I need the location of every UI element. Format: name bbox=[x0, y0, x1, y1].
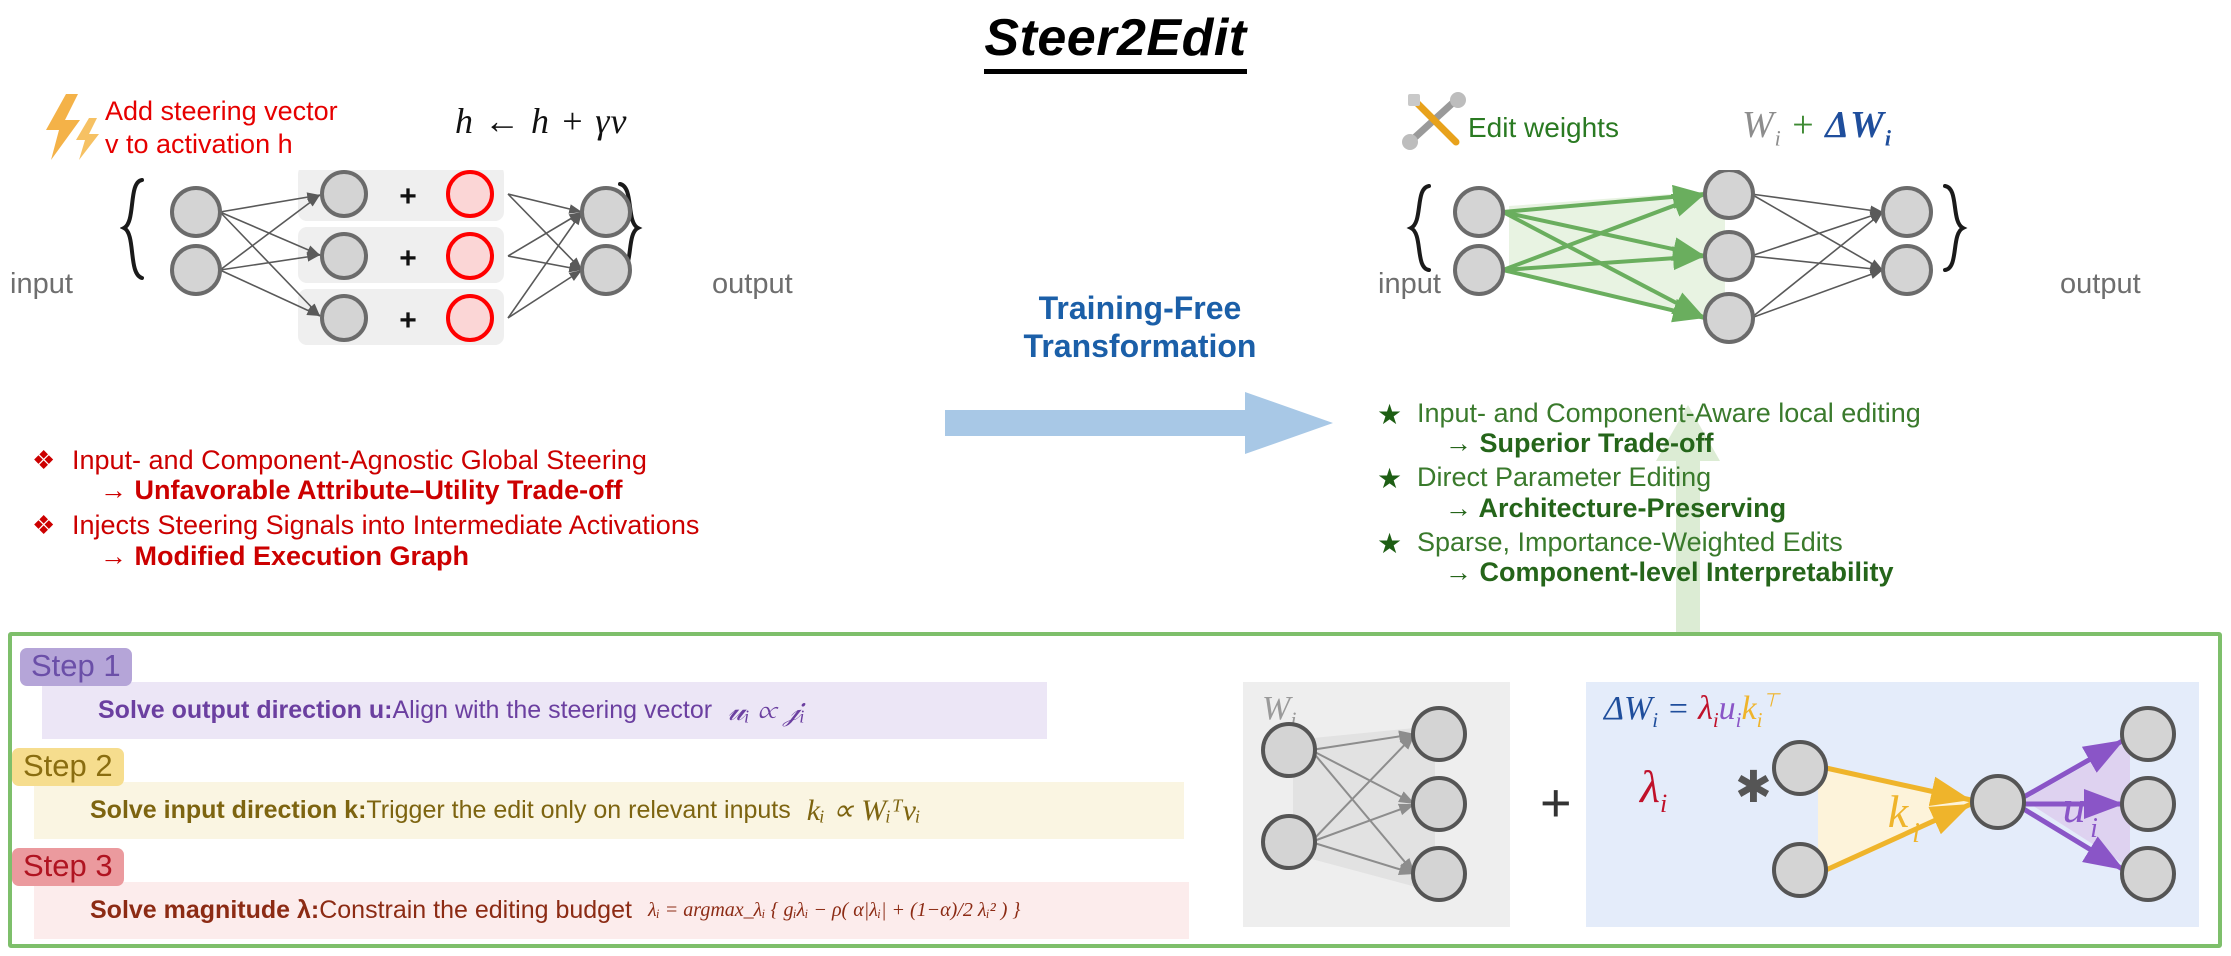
decomposition-plus-symbol: + bbox=[1540, 772, 1572, 834]
bullet-sub-text: → Modified Execution Graph bbox=[72, 541, 699, 571]
bullet-sub-text: → Architecture-Preserving bbox=[1417, 493, 1786, 523]
step-2-math: kᵢ ∝ Wᵢᵀvᵢ bbox=[807, 793, 921, 828]
left-bullet-list: ❖ Input- and Component-Agnostic Global S… bbox=[10, 445, 950, 576]
dw-bottleneck-neuron bbox=[1972, 776, 2024, 828]
step-1-text: Align with the steering vector bbox=[392, 696, 712, 725]
formula-dw: ΔW bbox=[1825, 104, 1885, 146]
step-2-text: Trigger the edit only on relevant inputs bbox=[366, 796, 790, 825]
wi-output-neuron bbox=[1413, 708, 1465, 760]
bullet-sub-text: → Superior Trade-off bbox=[1417, 428, 1921, 458]
left-input-label: input bbox=[10, 268, 73, 301]
bullet-main-text: Input- and Component-Aware local editing bbox=[1417, 398, 1921, 428]
activation-steering-formula: h ← h + γv bbox=[455, 100, 627, 142]
list-item: ★ Direct Parameter Editing → Architectur… bbox=[1355, 462, 2215, 522]
hidden-neuron bbox=[1705, 294, 1753, 342]
steering-vector-neuron bbox=[448, 172, 492, 216]
step-1-math: 𝓊ᵢ ∝ 𝒿ᵢ bbox=[728, 694, 805, 728]
dw-rank1-diagram: k i u i bbox=[1586, 682, 2199, 927]
bullet-main-text: Input- and Component-Agnostic Global Ste… bbox=[72, 445, 647, 475]
input-brace bbox=[1411, 186, 1429, 270]
list-item: ❖ Input- and Component-Agnostic Global S… bbox=[10, 445, 950, 505]
hidden-neuron bbox=[322, 234, 366, 278]
dw-output-neuron bbox=[2122, 848, 2174, 900]
wi-output-neuron bbox=[1413, 848, 1465, 900]
dw-output-neuron bbox=[2122, 778, 2174, 830]
page-title-text: Steer2Edit bbox=[984, 9, 1246, 74]
transformation-caption-line1: Training-Free bbox=[975, 290, 1305, 328]
bullet-main-text: Sparse, Importance-Weighted Edits bbox=[1417, 527, 1894, 557]
list-item: ★ Sparse, Importance-Weighted Edits → Co… bbox=[1355, 527, 2215, 587]
wi-input-neuron bbox=[1263, 724, 1315, 776]
wi-network-diagram bbox=[1243, 682, 1510, 927]
lightning-bolt-icon bbox=[40, 92, 106, 162]
dw-input-neuron bbox=[1774, 844, 1826, 896]
input-neuron bbox=[172, 188, 220, 236]
edited-network-diagram bbox=[1385, 170, 2025, 400]
right-input-label: input bbox=[1378, 268, 1441, 301]
bullet-sub-text: → Unfavorable Attribute–Utility Trade-of… bbox=[72, 475, 647, 505]
step-3-row: Solve magnitude λ: Constrain the editing… bbox=[34, 882, 1189, 939]
step-1-tag: Step 1 bbox=[20, 648, 132, 686]
step-1-bold: Solve output direction u: bbox=[98, 696, 392, 725]
right-output-label: output bbox=[2060, 268, 2141, 301]
star-bullet-icon: ★ bbox=[1355, 527, 1417, 560]
plus-symbol: + bbox=[399, 304, 417, 337]
output-neuron bbox=[582, 246, 630, 294]
hammer-and-wrench-icon bbox=[1400, 92, 1472, 150]
transformation-caption: Training-Free Transformation bbox=[975, 290, 1305, 366]
output-neuron bbox=[582, 188, 630, 236]
bullet-main-text: Direct Parameter Editing bbox=[1417, 462, 1786, 492]
dw-input-neuron bbox=[1774, 742, 1826, 794]
output-brace bbox=[1945, 186, 1963, 270]
input-brace bbox=[124, 180, 142, 278]
diamond-bullet-icon: ❖ bbox=[10, 510, 72, 541]
k-vector-sub: i bbox=[1912, 818, 1920, 849]
step-3-math: λᵢ = argmax_λᵢ { gᵢλᵢ − ρ( α|λᵢ| + (1−α)… bbox=[648, 899, 1020, 922]
left-heading-line1: Add steering vector bbox=[105, 95, 435, 128]
weight-edit-formula: Wi + ΔWi bbox=[1742, 103, 1892, 152]
hidden-neuron bbox=[1705, 232, 1753, 280]
formula-w-sub: i bbox=[1775, 126, 1782, 151]
input-neuron bbox=[1455, 246, 1503, 294]
transformation-caption-line2: Transformation bbox=[975, 328, 1305, 366]
step-1-row: Solve output direction u: Align with the… bbox=[42, 682, 1047, 739]
output-neuron bbox=[1883, 246, 1931, 294]
right-heading: Edit weights bbox=[1468, 112, 1619, 144]
step-3-tag: Step 3 bbox=[12, 848, 124, 886]
step-3-bold: Solve magnitude λ: bbox=[90, 896, 319, 925]
right-bullet-list: ★ Input- and Component-Aware local editi… bbox=[1355, 398, 2215, 591]
formula-dw-sub: i bbox=[1885, 126, 1892, 151]
wi-output-neuron bbox=[1413, 778, 1465, 830]
plus-symbol: + bbox=[399, 242, 417, 275]
hidden-neuron bbox=[322, 172, 366, 216]
list-item: ❖ Injects Steering Signals into Intermed… bbox=[10, 510, 950, 570]
bullet-main-text: Injects Steering Signals into Intermedia… bbox=[72, 510, 699, 540]
left-output-label: output bbox=[712, 268, 793, 301]
slide-canvas: Steer2Edit Add steering vector v to acti… bbox=[0, 0, 2231, 956]
k-vector-label: k bbox=[1888, 786, 1910, 837]
transformation-arrow-icon bbox=[945, 390, 1335, 460]
list-item: ★ Input- and Component-Aware local editi… bbox=[1355, 398, 2215, 458]
diamond-bullet-icon: ❖ bbox=[10, 445, 72, 476]
dw-output-neuron bbox=[2122, 708, 2174, 760]
step-3-text: Constrain the editing budget bbox=[319, 896, 632, 925]
plus-symbol: + bbox=[399, 180, 417, 213]
output-neuron bbox=[1883, 188, 1931, 236]
formula-w: W bbox=[1742, 104, 1775, 146]
wi-input-neuron bbox=[1263, 816, 1315, 868]
star-bullet-icon: ★ bbox=[1355, 462, 1417, 495]
hidden-neuron bbox=[322, 296, 366, 340]
step-2-bold: Solve input direction k: bbox=[90, 796, 366, 825]
hidden-neuron bbox=[1705, 170, 1753, 218]
star-bullet-icon: ★ bbox=[1355, 398, 1417, 431]
u-vector-sub: i bbox=[2090, 813, 2098, 844]
u-vector-label: u bbox=[2063, 781, 2086, 832]
formula-plus: + bbox=[1792, 104, 1814, 146]
step-2-tag: Step 2 bbox=[12, 748, 124, 786]
input-neuron bbox=[172, 246, 220, 294]
left-heading: Add steering vector v to activation h bbox=[105, 95, 435, 161]
steering-vector-neuron bbox=[448, 296, 492, 340]
bullet-sub-text: → Component-level Interpretability bbox=[1417, 557, 1894, 587]
steering-vector-neuron bbox=[448, 234, 492, 278]
page-title: Steer2Edit bbox=[0, 8, 2231, 68]
input-neuron bbox=[1455, 188, 1503, 236]
steering-network-diagram: + + + bbox=[120, 170, 740, 400]
left-heading-line2: v to activation h bbox=[105, 128, 435, 161]
step-2-row: Solve input direction k: Trigger the edi… bbox=[34, 782, 1184, 839]
